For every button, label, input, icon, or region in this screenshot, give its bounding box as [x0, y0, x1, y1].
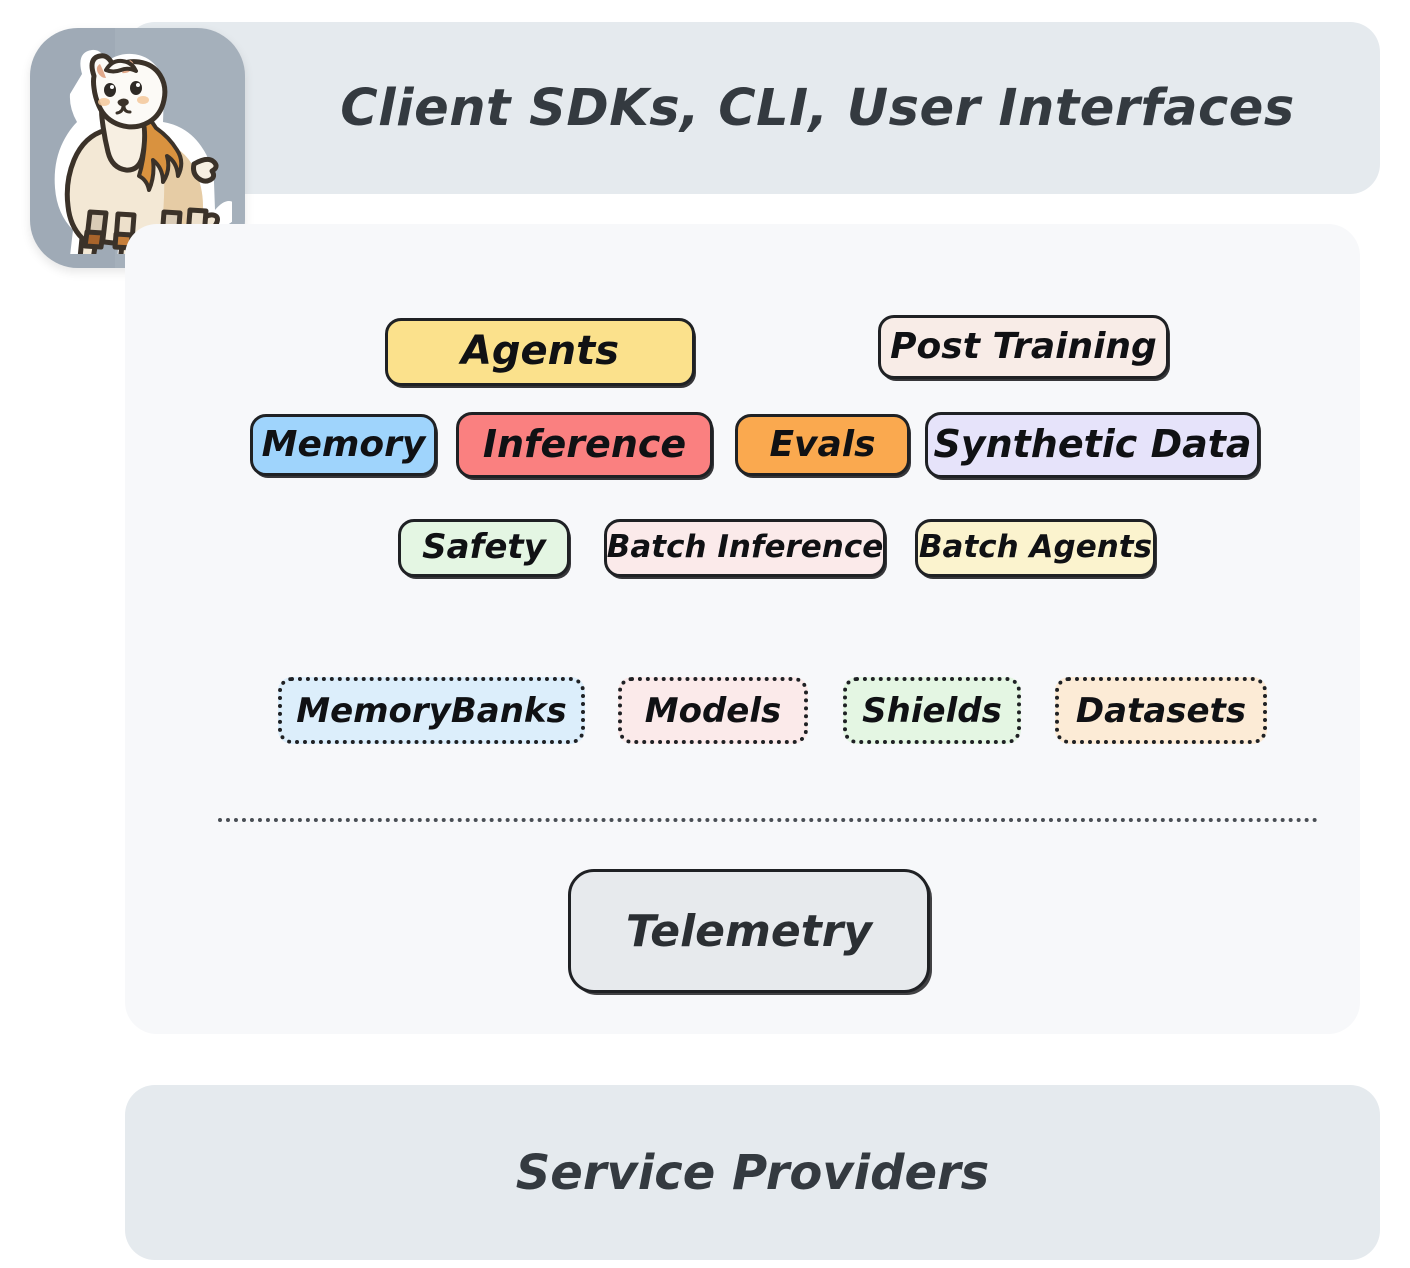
api-box-batch-inference[interactable]: Batch Inference [604, 519, 886, 577]
resource-box-models[interactable]: Models [618, 677, 808, 744]
api-box-label: Post Training [890, 326, 1157, 367]
api-box-label: Agents [461, 328, 619, 374]
api-box-label: Safety [422, 527, 546, 567]
service-providers-band: Service Providers [125, 1085, 1380, 1260]
llama-logo-icon [44, 44, 232, 254]
api-box-label: Batch Inference [607, 529, 884, 565]
api-box-label: Evals [769, 424, 875, 465]
api-box-evals[interactable]: Evals [735, 414, 910, 476]
api-box-label: Inference [483, 422, 686, 466]
resource-box-label: MemoryBanks [296, 691, 567, 731]
api-box-post-training[interactable]: Post Training [878, 315, 1169, 379]
resource-box-memorybanks[interactable]: MemoryBanks [278, 677, 585, 744]
api-box-label: Batch Agents [919, 529, 1152, 565]
service-providers-title: Service Providers [125, 1085, 1380, 1260]
telemetry-box[interactable]: Telemetry [568, 869, 930, 993]
resource-box-label: Shields [862, 691, 1002, 731]
api-box-label: Memory [262, 424, 426, 465]
api-box-batch-agents[interactable]: Batch Agents [915, 519, 1156, 577]
api-box-inference[interactable]: Inference [456, 412, 713, 478]
page-title: Client SDKs, CLI, User Interfaces [255, 22, 1380, 194]
api-box-safety[interactable]: Safety [398, 519, 570, 577]
resource-box-shields[interactable]: Shields [843, 677, 1021, 744]
resource-box-label: Models [645, 691, 781, 731]
dotted-divider [218, 818, 1318, 822]
api-box-memory[interactable]: Memory [250, 414, 437, 476]
resource-box-label: Datasets [1076, 691, 1246, 731]
api-box-synthetic-data[interactable]: Synthetic Data [925, 412, 1260, 478]
api-box-agents[interactable]: Agents [385, 318, 695, 386]
resource-box-datasets[interactable]: Datasets [1055, 677, 1267, 744]
api-box-label: Synthetic Data [933, 422, 1251, 466]
